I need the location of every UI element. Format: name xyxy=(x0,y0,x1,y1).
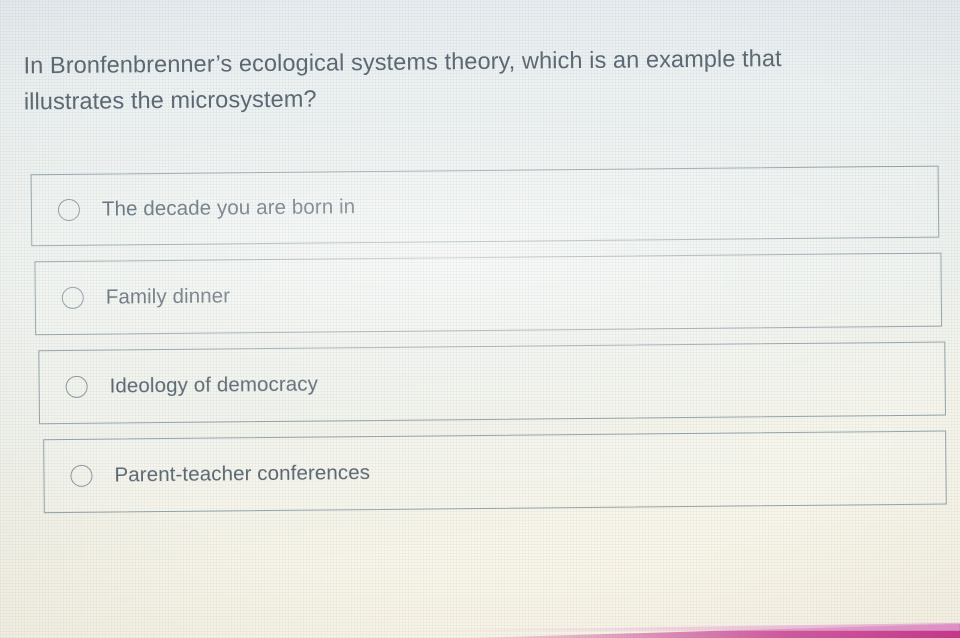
answer-option-3[interactable]: Ideology of democracy xyxy=(38,342,946,425)
answer-option-1[interactable]: The decade you are born in xyxy=(31,166,940,247)
screen-photo: In Bronfenbrenner’s ecological systems t… xyxy=(0,0,960,638)
radio-unselected-icon[interactable] xyxy=(70,465,92,487)
answer-option-1-label: The decade you are born in xyxy=(102,195,356,221)
question-text: In Bronfenbrenner’s ecological systems t… xyxy=(23,40,884,120)
answer-option-2[interactable]: Family dinner xyxy=(34,253,942,336)
answer-option-3-label: Ideology of democracy xyxy=(110,373,319,399)
answer-options-list: The decade you are born in Family dinner… xyxy=(0,165,960,528)
quiz-content: In Bronfenbrenner’s ecological systems t… xyxy=(0,0,960,638)
radio-unselected-icon[interactable] xyxy=(66,376,88,398)
answer-option-4-label: Parent-teacher conferences xyxy=(114,461,370,487)
radio-unselected-icon[interactable] xyxy=(58,199,80,221)
answer-option-2-label: Family dinner xyxy=(106,284,231,309)
answer-option-4[interactable]: Parent-teacher conferences xyxy=(43,431,947,514)
radio-unselected-icon[interactable] xyxy=(62,287,84,309)
